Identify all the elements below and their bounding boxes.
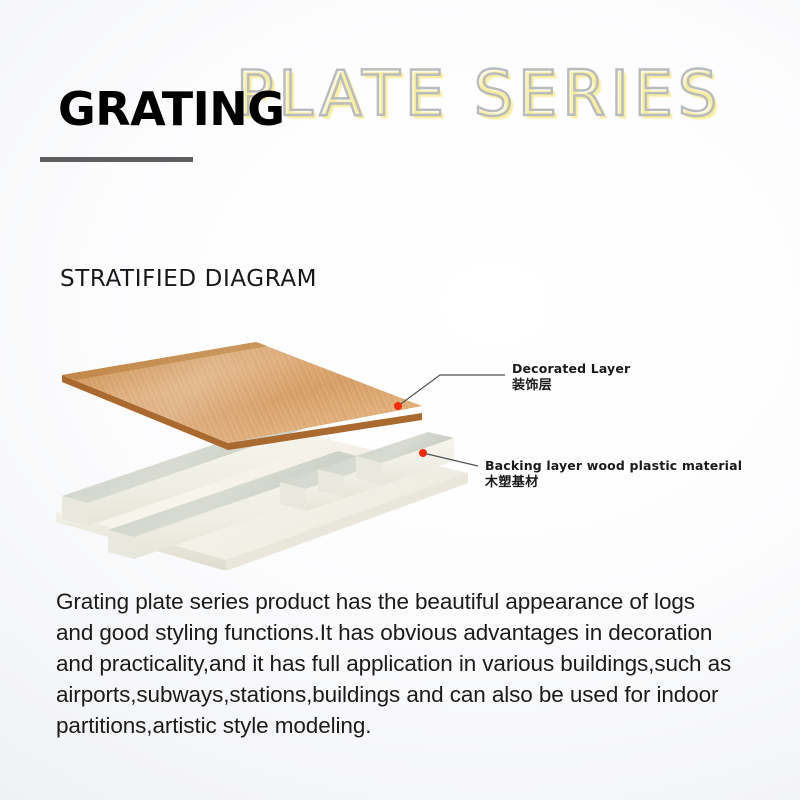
stratified-diagram bbox=[0, 330, 800, 570]
product-description: Grating plate series product has the bea… bbox=[56, 586, 736, 741]
title-underline-rule bbox=[40, 157, 193, 162]
section-heading: STRATIFIED DIAGRAM bbox=[60, 266, 317, 292]
marker-dot-backing bbox=[419, 449, 427, 457]
callout-decorated-label-en: Decorated Layer bbox=[512, 361, 630, 376]
leader-line-decorated bbox=[398, 375, 505, 406]
page-title: GRATING bbox=[58, 86, 284, 132]
layer-diagram-svg bbox=[0, 330, 800, 570]
product-spec-page: PLATE SERIES GRATING STRATIFIED DIAGRAM bbox=[0, 0, 800, 800]
callout-decorated-label-cn: 装饰层 bbox=[512, 378, 630, 394]
page-header: PLATE SERIES GRATING bbox=[0, 0, 800, 180]
marker-dot-decorated bbox=[394, 402, 402, 410]
callout-backing-label-en: Backing layer wood plastic material bbox=[485, 458, 742, 473]
product-description-text: Grating plate series product has the bea… bbox=[56, 586, 736, 741]
decorated-layer-group bbox=[62, 342, 422, 450]
header-ghost-title: PLATE SERIES bbox=[236, 63, 722, 125]
callout-backing-layer: Backing layer wood plastic material 木塑基材 bbox=[485, 458, 742, 491]
callout-decorated-layer: Decorated Layer 装饰层 bbox=[512, 361, 630, 394]
callout-backing-label-cn: 木塑基材 bbox=[485, 475, 742, 491]
